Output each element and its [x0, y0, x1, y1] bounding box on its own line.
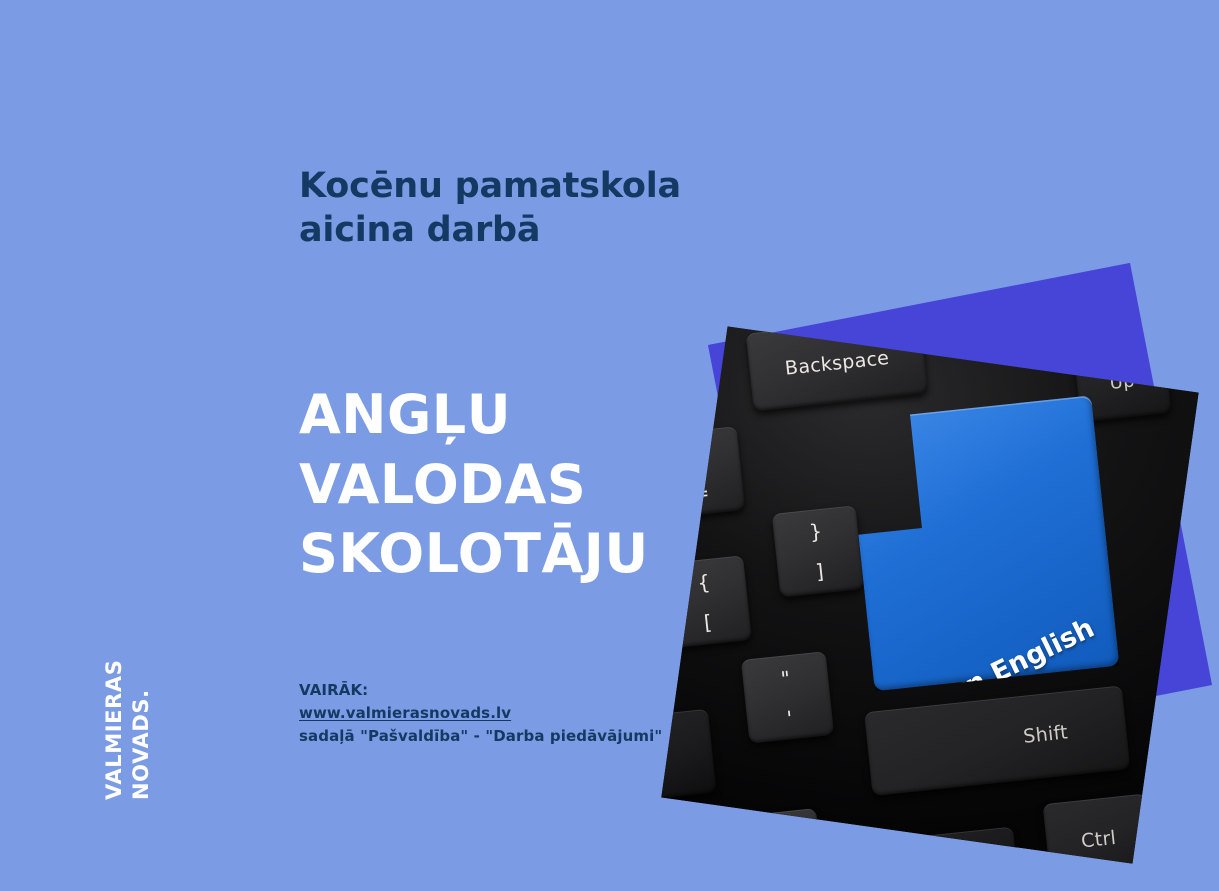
question-icon: ?	[733, 821, 819, 852]
key-shift: Shift	[864, 686, 1130, 797]
more-info-label: VAIRĀK:	[299, 679, 819, 702]
more-info-section: sadaļā "Pašvaldība" - "Darba piedāvājumi…	[299, 725, 819, 748]
brand-line-2: NOVADS.	[129, 689, 153, 800]
keyboard-photo: Home Backspace Page Up + = } ] { [	[661, 326, 1199, 864]
brand-vertical: VALMIERAS NOVADS.	[104, 600, 164, 800]
bracket-close-icon: ]	[777, 557, 863, 588]
headline-line-2: aicina darbā	[299, 208, 729, 252]
poster-canvas: Home Backspace Page Up + = } ] { [	[0, 0, 1219, 891]
key-learn-english: Learn English	[847, 396, 1120, 692]
keyboard-surface: Home Backspace Page Up + = } ] { [	[661, 326, 1199, 864]
key-bottom-blank	[846, 827, 1022, 864]
key-ctrl: Ctrl	[1043, 794, 1155, 864]
main-title-line-3: SKOLOTĀJU	[299, 519, 729, 589]
more-info-block: VAIRĀK: www.valmierasnovads.lv sadaļā "P…	[299, 679, 819, 747]
headline-line-1: Kocēnu pamatskola	[299, 164, 729, 208]
main-title-line-1: ANGĻU	[299, 380, 729, 450]
key-question-slash: ? /	[732, 809, 824, 864]
main-title-line-2: VALODAS	[299, 450, 729, 520]
website-link[interactable]: www.valmierasnovads.lv	[299, 702, 511, 725]
brand-line-1: VALMIERAS	[102, 660, 126, 800]
keyboard-keys-layer: Home Backspace Page Up + = } ] { [	[661, 326, 1199, 864]
key-brace-bracket-close: } ]	[772, 505, 864, 597]
more-info-link-row: www.valmierasnovads.lv	[299, 702, 819, 725]
slash-icon: /	[737, 860, 823, 864]
main-title: ANGĻU VALODAS SKOLOTĀJU	[299, 380, 729, 589]
bracket-open-icon: [	[665, 607, 751, 638]
headline: Kocēnu pamatskola aicina darbā	[299, 164, 729, 253]
brace-close-icon: }	[773, 517, 859, 548]
